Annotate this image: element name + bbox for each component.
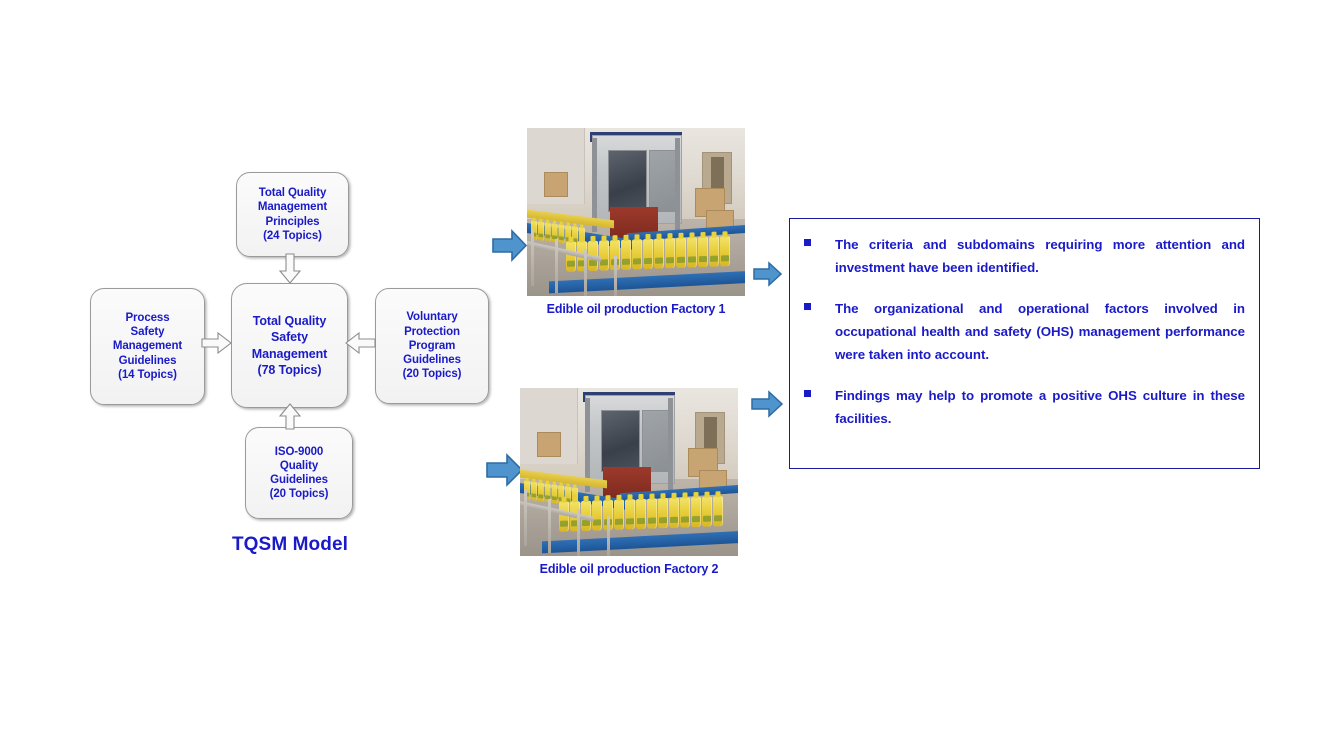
node-line: (20 Topics) bbox=[380, 367, 484, 381]
photo-rail-post bbox=[584, 249, 587, 296]
finding-text: The organizational and operational facto… bbox=[835, 297, 1245, 366]
connector-arrow-down-icon bbox=[279, 254, 301, 284]
node-total-quality-safety-management: Total Quality Safety Management (78 Topi… bbox=[231, 283, 348, 408]
factory-1-block: Edible oil production Factory 1 bbox=[527, 128, 745, 316]
blue-arrow-right-from-factory-1-icon bbox=[753, 261, 782, 287]
square-bullet-icon bbox=[804, 303, 811, 310]
node-line: Management bbox=[95, 339, 200, 353]
node-line: Total Quality bbox=[236, 313, 343, 330]
square-bullet-icon bbox=[804, 390, 811, 397]
node-line: Management bbox=[236, 346, 343, 363]
node-line: Guidelines bbox=[380, 353, 484, 367]
findings-box: The criteria and subdomains requiring mo… bbox=[789, 218, 1260, 469]
finding-text: The criteria and subdomains requiring mo… bbox=[835, 233, 1245, 279]
factory-2-caption: Edible oil production Factory 2 bbox=[520, 562, 738, 576]
node-line: Safety bbox=[95, 325, 200, 339]
photo-carton bbox=[537, 432, 561, 458]
node-total-quality-management-principles: Total Quality Management Principles (24 … bbox=[236, 172, 349, 257]
photo-machine-panel bbox=[642, 410, 670, 472]
finding-item: The criteria and subdomains requiring mo… bbox=[800, 233, 1245, 279]
photo-rail-post bbox=[555, 239, 558, 293]
connector-arrow-up-icon bbox=[279, 404, 301, 430]
node-line: (78 Topics) bbox=[236, 362, 343, 379]
node-line: Program bbox=[380, 339, 484, 353]
finding-text: Findings may help to promote a positive … bbox=[835, 384, 1245, 430]
square-bullet-icon bbox=[804, 239, 811, 246]
finding-item: Findings may help to promote a positive … bbox=[800, 384, 1245, 430]
node-line: Protection bbox=[380, 325, 484, 339]
factory-1-photo bbox=[527, 128, 745, 296]
node-line: (24 Topics) bbox=[241, 229, 344, 243]
photo-rail-post bbox=[548, 499, 551, 553]
blue-arrow-right-to-factory-1-icon bbox=[492, 229, 528, 262]
connector-arrow-right-icon bbox=[202, 331, 232, 355]
factory-2-photo bbox=[520, 388, 738, 556]
blue-arrow-right-from-factory-2-icon bbox=[751, 390, 783, 418]
photo-machine-post bbox=[675, 138, 680, 232]
photo-machine-window bbox=[601, 410, 640, 472]
node-line: (14 Topics) bbox=[95, 368, 200, 382]
photo-rail-post bbox=[607, 516, 610, 556]
node-line: Principles bbox=[241, 215, 344, 229]
node-iso-9000-quality-guidelines: ISO-9000 Quality Guidelines (20 Topics) bbox=[245, 427, 353, 519]
finding-item: The organizational and operational facto… bbox=[800, 297, 1245, 366]
slide-canvas: Total Quality Management Principles (24 … bbox=[0, 0, 1334, 750]
node-line: Quality bbox=[250, 459, 348, 473]
node-line: Safety bbox=[236, 329, 343, 346]
node-line: Process bbox=[95, 311, 200, 325]
connector-arrow-left-icon bbox=[345, 331, 375, 355]
photo-machine-window bbox=[608, 150, 647, 212]
node-voluntary-protection-program-guidelines: Voluntary Protection Program Guidelines … bbox=[375, 288, 489, 404]
node-line: Management bbox=[241, 200, 344, 214]
photo-machine-panel bbox=[649, 150, 677, 212]
node-line: ISO-9000 bbox=[250, 445, 348, 459]
photo-rail-post bbox=[577, 509, 580, 556]
photo-rail-post bbox=[524, 489, 527, 546]
photo-machine-post bbox=[668, 398, 673, 492]
node-line: Voluntary bbox=[380, 310, 484, 324]
tqsm-model-label: TQSM Model bbox=[205, 534, 375, 556]
factory-2-block: Edible oil production Factory 2 bbox=[520, 388, 738, 576]
node-line: Total Quality bbox=[241, 186, 344, 200]
node-line: Guidelines bbox=[95, 354, 200, 368]
blue-arrow-right-to-factory-2-icon bbox=[486, 453, 524, 487]
photo-rail-post bbox=[531, 229, 534, 286]
photo-carton bbox=[544, 172, 568, 198]
node-line: (20 Topics) bbox=[250, 487, 348, 501]
factory-1-caption: Edible oil production Factory 1 bbox=[527, 302, 745, 316]
node-process-safety-management-guidelines: Process Safety Management Guidelines (14… bbox=[90, 288, 205, 405]
node-line: Guidelines bbox=[250, 473, 348, 487]
photo-rail-post bbox=[614, 256, 617, 296]
